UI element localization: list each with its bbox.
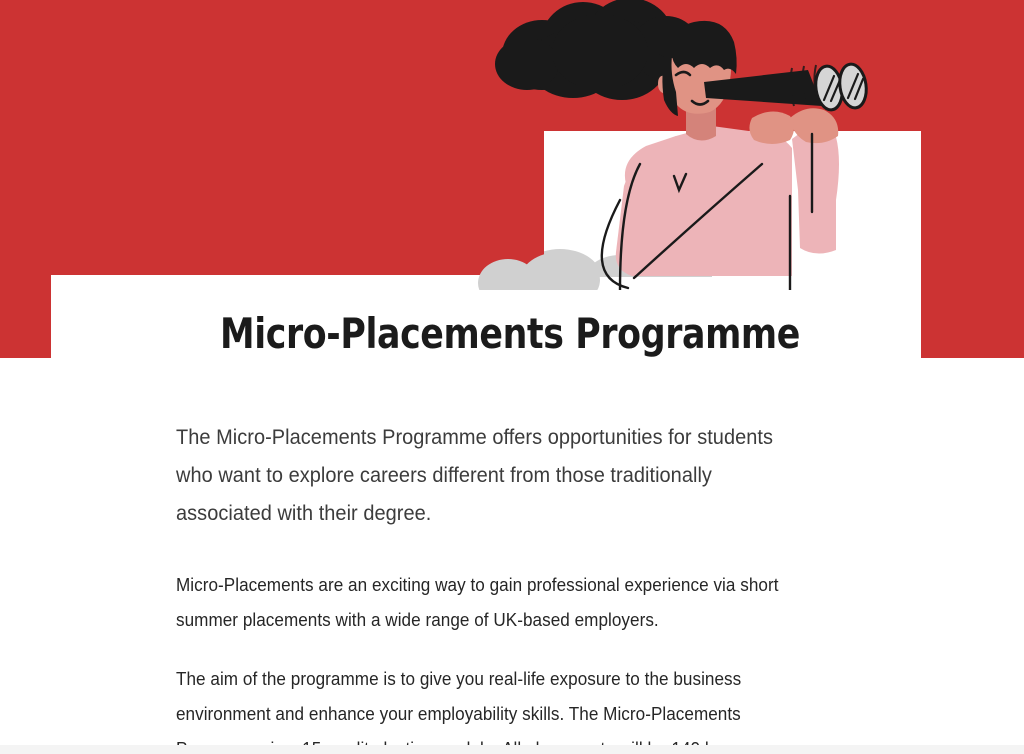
hero-red-lower-right-block <box>921 275 1024 358</box>
content-area: Micro-Placements Programme The Micro-Pla… <box>176 310 856 754</box>
intro-paragraph: The Micro-Placements Programme offers op… <box>176 419 803 534</box>
paragraph-3: The aim of the programme is to give you … <box>176 662 803 754</box>
body-copy: The Micro-Placements Programme offers op… <box>176 419 836 754</box>
hero-image-panel <box>544 131 921 277</box>
page-title: Micro-Placements Programme <box>203 310 818 357</box>
page-bottom-edge <box>0 745 1024 754</box>
paragraph-2: Micro-Placements are an exciting way to … <box>176 568 803 638</box>
page-root: Micro-Placements Programme The Micro-Pla… <box>0 0 1024 754</box>
